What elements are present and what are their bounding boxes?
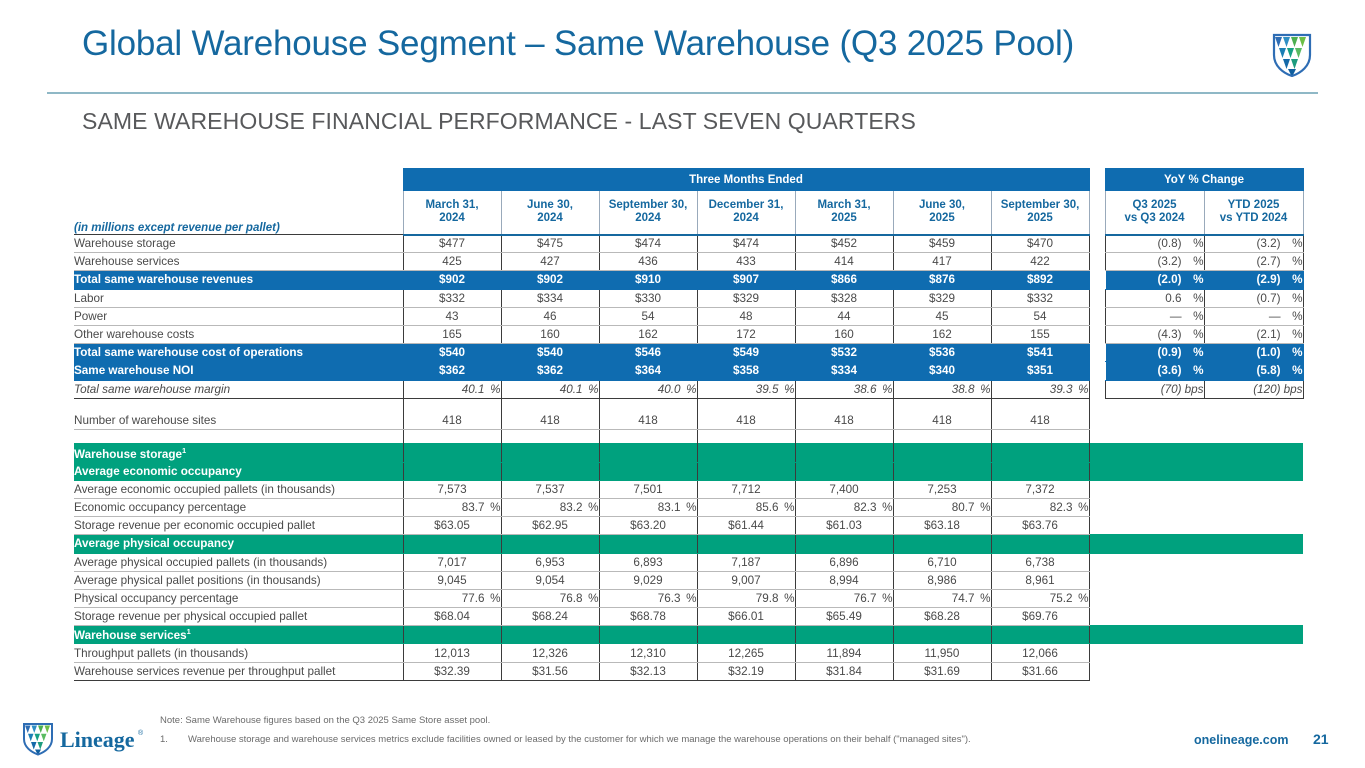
table-section-header-row: Warehouse storage1 <box>74 444 1303 462</box>
yoy-symbol: % <box>1182 346 1204 359</box>
cell-yoy: (70)bps <box>1105 380 1204 398</box>
units-label: (in millions except revenue per pallet) <box>74 191 403 235</box>
svg-text:®: ® <box>138 729 144 737</box>
empty-yoy-cell <box>1204 412 1303 430</box>
cell-value: $31.66 <box>991 662 1089 680</box>
cell-value <box>403 462 501 480</box>
cell-value: 76.3% <box>599 589 697 607</box>
row-label: Warehouse services <box>74 253 403 271</box>
yoy-number: (1.0) <box>1223 346 1281 359</box>
cell-value: $477 <box>403 235 501 253</box>
col-line1: March 31, <box>796 199 893 212</box>
cell-value: $68.78 <box>599 608 697 626</box>
cell-value: 39.5% <box>697 380 795 398</box>
yoy-symbol: % <box>1281 346 1303 359</box>
cell-value: 8,961 <box>991 571 1089 589</box>
cell-number: 83.1 <box>629 501 681 514</box>
cell-value: 12,310 <box>599 644 697 662</box>
cell-number: 76.7 <box>825 592 877 605</box>
cell-yoy: (2.9)% <box>1204 271 1303 289</box>
column-gap <box>1089 253 1105 271</box>
cell-value: $910 <box>599 271 697 289</box>
cell-value: $61.44 <box>697 517 795 535</box>
cell-symbol: % <box>681 383 697 396</box>
cell-value: $549 <box>697 344 795 362</box>
cell-value: $68.28 <box>893 608 991 626</box>
cell-symbol: % <box>877 383 893 396</box>
column-gap <box>1089 608 1105 626</box>
spacer-cell <box>795 430 893 444</box>
row-label: Economic occupancy percentage <box>74 498 403 516</box>
yoy-symbol: % <box>1281 328 1303 341</box>
cell-value: 40.0% <box>599 380 697 398</box>
cell-value: $62.95 <box>501 517 599 535</box>
yoy-number: (3.2) <box>1124 255 1182 268</box>
empty-yoy-cell <box>1105 517 1204 535</box>
yoy-symbol: % <box>1182 273 1204 286</box>
cell-value: $532 <box>795 344 893 362</box>
empty-yoy-cell <box>1204 498 1303 516</box>
col-line1: YTD 2025 <box>1205 199 1303 212</box>
cell-value: 54 <box>991 307 1089 325</box>
column-gap <box>1089 462 1105 480</box>
table-spacer-row <box>74 398 1303 412</box>
page-subtitle: SAME WAREHOUSE FINANCIAL PERFORMANCE - L… <box>82 108 916 135</box>
group-header-yoy: YoY % Change <box>1105 169 1303 191</box>
website-link[interactable]: onelineage.com <box>1194 733 1288 747</box>
col-line2: 2025 <box>894 212 991 225</box>
cell-value: 165 <box>403 325 501 343</box>
cell-number: 79.8 <box>727 592 779 605</box>
empty-yoy-cell <box>1204 430 1303 444</box>
cell-symbol: % <box>1073 592 1089 605</box>
cell-value: $902 <box>501 271 599 289</box>
cell-value: 11,894 <box>795 644 893 662</box>
cell-value: $540 <box>501 344 599 362</box>
cell-yoy: (2.1)% <box>1204 325 1303 343</box>
cell-value <box>403 626 501 644</box>
cell-symbol: % <box>485 501 501 514</box>
cell-value: 8,986 <box>893 571 991 589</box>
yoy-number: — <box>1223 310 1281 323</box>
slide: Global Warehouse Segment – Same Warehous… <box>0 0 1365 768</box>
cell-value: $452 <box>795 235 893 253</box>
table-row: Labor$332$334$330$329$328$329$3320.6%(0.… <box>74 289 1303 307</box>
cell-value: $63.18 <box>893 517 991 535</box>
svg-text:Lineage: Lineage <box>60 727 135 752</box>
table-spacer-row <box>74 430 1303 444</box>
table-row: Storage revenue per physical occupied pa… <box>74 608 1303 626</box>
column-header-quarter-3: September 30,2024 <box>599 191 697 235</box>
cell-value: $866 <box>795 271 893 289</box>
cell-value: 45 <box>893 307 991 325</box>
cell-value: 414 <box>795 253 893 271</box>
cell-value: 9,045 <box>403 571 501 589</box>
column-gap <box>1089 169 1105 191</box>
cell-value: 80.7% <box>893 498 991 516</box>
cell-value <box>893 462 991 480</box>
empty-yoy-cell <box>1105 498 1204 516</box>
group-header-three-months: Three Months Ended <box>403 169 1089 191</box>
cell-number: 82.3 <box>1021 501 1073 514</box>
cell-value: $68.04 <box>403 608 501 626</box>
empty-yoy-cell <box>1204 571 1303 589</box>
lineage-shield-icon <box>1272 33 1312 77</box>
cell-number: 76.3 <box>629 592 681 605</box>
spacer-cell <box>599 398 697 412</box>
cell-value: 436 <box>599 253 697 271</box>
yoy-symbol: % <box>1182 255 1204 268</box>
table-row: Throughput pallets (in thousands)12,0131… <box>74 644 1303 662</box>
cell-value <box>795 626 893 644</box>
financial-table-wrapper: Three Months Ended YoY % Change (in mill… <box>74 168 1304 681</box>
col-line1: March 31, <box>404 199 501 212</box>
cell-symbol: % <box>877 501 893 514</box>
cell-value: 6,893 <box>599 553 697 571</box>
yoy-symbol: % <box>1182 328 1204 341</box>
yoy-symbol: % <box>1182 292 1204 305</box>
table-row: Average physical occupied pallets (in th… <box>74 553 1303 571</box>
empty-corner <box>74 169 403 191</box>
cell-value: $540 <box>403 344 501 362</box>
column-gap <box>1089 412 1105 430</box>
spacer-cell <box>697 430 795 444</box>
empty-yoy-cell <box>1204 462 1303 480</box>
column-gap <box>1089 553 1105 571</box>
cell-value: 9,007 <box>697 571 795 589</box>
yoy-number: (3.6) <box>1124 364 1182 377</box>
cell-value: 433 <box>697 253 795 271</box>
page-number: 21 <box>1313 731 1329 747</box>
footnote-number: 1. <box>160 734 188 745</box>
empty-yoy-cell <box>1105 412 1204 430</box>
table-section-header-row: Average physical occupancy <box>74 535 1303 553</box>
row-label: Storage revenue per economic occupied pa… <box>74 517 403 535</box>
cell-value: 9,029 <box>599 571 697 589</box>
cell-symbol: % <box>975 383 991 396</box>
yoy-number: (2.1) <box>1223 328 1281 341</box>
col-line2: vs YTD 2024 <box>1205 212 1303 225</box>
cell-value: 12,326 <box>501 644 599 662</box>
row-label: Labor <box>74 289 403 307</box>
cell-value: $474 <box>697 235 795 253</box>
spacer-cell <box>501 398 599 412</box>
cell-yoy: (4.3)% <box>1105 325 1204 343</box>
cell-value: $334 <box>501 289 599 307</box>
cell-value: $474 <box>599 235 697 253</box>
cell-value: $63.76 <box>991 517 1089 535</box>
column-header-quarter-2: June 30,2024 <box>501 191 599 235</box>
col-line2: 2024 <box>404 212 501 225</box>
cell-yoy: (3.2)% <box>1105 253 1204 271</box>
footer-note: Note: Same Warehouse figures based on th… <box>160 715 490 726</box>
empty-yoy-cell <box>1204 644 1303 662</box>
cell-value <box>795 462 893 480</box>
table-row: Physical occupancy percentage77.6%76.8%7… <box>74 589 1303 607</box>
column-gap <box>1089 362 1105 380</box>
cell-number: 85.6 <box>727 501 779 514</box>
cell-symbol: % <box>485 383 501 396</box>
footer-footnote: 1.Warehouse storage and warehouse servic… <box>160 734 971 745</box>
cell-value: 75.2% <box>991 589 1089 607</box>
cell-value: 82.3% <box>795 498 893 516</box>
table-row: Total same warehouse cost of operations$… <box>74 344 1303 362</box>
yoy-number: (4.3) <box>1124 328 1182 341</box>
title-divider <box>47 92 1318 94</box>
cell-value: 162 <box>599 325 697 343</box>
table-row: Power43465448444554—%—% <box>74 307 1303 325</box>
cell-value: $332 <box>991 289 1089 307</box>
group-header-row: Three Months Ended YoY % Change <box>74 169 1303 191</box>
cell-value <box>403 535 501 553</box>
col-line1: Q3 2025 <box>1106 199 1204 212</box>
row-label: Total same warehouse revenues <box>74 271 403 289</box>
empty-yoy-cell <box>1105 444 1204 462</box>
cell-value: 76.8% <box>501 589 599 607</box>
yoy-number: (2.0) <box>1124 273 1182 286</box>
row-label: Warehouse services revenue per throughpu… <box>74 662 403 680</box>
cell-value <box>403 444 501 462</box>
cell-value <box>599 626 697 644</box>
cell-value: 82.3% <box>991 498 1089 516</box>
yoy-number: (2.9) <box>1223 273 1281 286</box>
spacer-label <box>74 398 403 412</box>
row-label: Total same warehouse cost of operations <box>74 344 403 362</box>
column-header-quarter-7: September 30,2025 <box>991 191 1089 235</box>
empty-yoy-cell <box>1105 662 1204 680</box>
cell-value: 427 <box>501 253 599 271</box>
empty-yoy-cell <box>1105 626 1204 644</box>
yoy-symbol: bps <box>1182 383 1204 396</box>
cell-value: $31.69 <box>893 662 991 680</box>
cell-value: 7,400 <box>795 480 893 498</box>
table-row: Average economic occupied pallets (in th… <box>74 480 1303 498</box>
cell-value: 12,013 <box>403 644 501 662</box>
empty-yoy-cell <box>1105 608 1204 626</box>
cell-yoy: (5.8)% <box>1204 362 1303 380</box>
column-gap <box>1089 444 1105 462</box>
cell-yoy: (2.0)% <box>1105 271 1204 289</box>
cell-value: 418 <box>795 412 893 430</box>
cell-value: 172 <box>697 325 795 343</box>
table-section-header-row: Warehouse services1 <box>74 626 1303 644</box>
cell-value: 418 <box>599 412 697 430</box>
cell-value: $536 <box>893 344 991 362</box>
cell-value: $362 <box>403 362 501 380</box>
cell-value: 6,896 <box>795 553 893 571</box>
spacer-cell <box>501 430 599 444</box>
yoy-symbol: % <box>1182 310 1204 323</box>
col-line1: June 30, <box>894 199 991 212</box>
col-line1: December 31, <box>698 199 795 212</box>
empty-yoy-cell <box>1105 553 1204 571</box>
yoy-symbol: % <box>1281 273 1303 286</box>
empty-yoy-cell <box>1204 444 1303 462</box>
cell-value: 38.6% <box>795 380 893 398</box>
cell-value: 48 <box>697 307 795 325</box>
column-gap <box>1089 571 1105 589</box>
cell-value: 418 <box>697 412 795 430</box>
cell-value: 6,710 <box>893 553 991 571</box>
col-line2: 2024 <box>600 212 697 225</box>
cell-value <box>893 444 991 462</box>
cell-value: $907 <box>697 271 795 289</box>
row-label: Warehouse storage1 <box>74 444 403 462</box>
table-row: Other warehouse costs1651601621721601621… <box>74 325 1303 343</box>
table-row: Number of warehouse sites418418418418418… <box>74 412 1303 430</box>
column-gap <box>1089 271 1105 289</box>
cell-yoy: 0.6% <box>1105 289 1204 307</box>
yoy-number: (5.8) <box>1223 364 1281 377</box>
cell-value: 162 <box>893 325 991 343</box>
col-line2: 2025 <box>796 212 893 225</box>
row-label: Same warehouse NOI <box>74 362 403 380</box>
cell-value: $31.56 <box>501 662 599 680</box>
cell-value: 7,501 <box>599 480 697 498</box>
table-section-header-row: Average economic occupancy <box>74 462 1303 480</box>
cell-value <box>991 444 1089 462</box>
column-gap <box>1089 235 1105 253</box>
yoy-symbol: % <box>1182 237 1204 250</box>
table-body: Warehouse storage$477$475$474$474$452$45… <box>74 235 1303 681</box>
empty-yoy-cell <box>1204 662 1303 680</box>
empty-yoy-cell <box>1204 589 1303 607</box>
cell-number: 80.7 <box>923 501 975 514</box>
cell-symbol: % <box>681 592 697 605</box>
yoy-symbol: % <box>1281 364 1303 377</box>
cell-value: 8,994 <box>795 571 893 589</box>
yoy-number: 0.6 <box>1124 292 1182 305</box>
cell-number: 38.6 <box>825 383 877 396</box>
cell-yoy: —% <box>1105 307 1204 325</box>
cell-value: $546 <box>599 344 697 362</box>
table-row: Storage revenue per economic occupied pa… <box>74 517 1303 535</box>
cell-value: $358 <box>697 362 795 380</box>
column-gap <box>1089 344 1105 362</box>
yoy-symbol: % <box>1281 237 1303 250</box>
cell-value: 7,187 <box>697 553 795 571</box>
cell-yoy: (2.7)% <box>1204 253 1303 271</box>
cell-value <box>893 535 991 553</box>
col-line2: 2025 <box>992 212 1089 225</box>
col-line1: June 30, <box>502 199 599 212</box>
cell-symbol: % <box>681 501 697 514</box>
table-row: Warehouse services revenue per throughpu… <box>74 662 1303 680</box>
column-gap <box>1089 535 1105 553</box>
cell-number: 40.1 <box>531 383 583 396</box>
cell-value: 418 <box>893 412 991 430</box>
row-label: Power <box>74 307 403 325</box>
cell-value: $876 <box>893 271 991 289</box>
cell-value: $31.84 <box>795 662 893 680</box>
cell-value: 77.6% <box>403 589 501 607</box>
cell-symbol: % <box>779 592 795 605</box>
cell-value: 6,953 <box>501 553 599 571</box>
row-label: Storage revenue per physical occupied pa… <box>74 608 403 626</box>
cell-number: 40.0 <box>629 383 681 396</box>
cell-yoy: (1.0)% <box>1204 344 1303 362</box>
spacer-cell <box>403 430 501 444</box>
spacer-cell <box>893 398 991 412</box>
cell-value: $66.01 <box>697 608 795 626</box>
same-warehouse-financial-table: Three Months Ended YoY % Change (in mill… <box>74 168 1304 681</box>
cell-value: 7,017 <box>403 553 501 571</box>
col-line1: September 30, <box>600 199 697 212</box>
spacer-label <box>74 430 403 444</box>
cell-number: 76.8 <box>531 592 583 605</box>
cell-value <box>893 626 991 644</box>
cell-value: 38.8% <box>893 380 991 398</box>
cell-value: 7,253 <box>893 480 991 498</box>
page-title: Global Warehouse Segment – Same Warehous… <box>82 24 1074 64</box>
empty-yoy-cell <box>1204 626 1303 644</box>
cell-value: 79.8% <box>697 589 795 607</box>
cell-value: 418 <box>501 412 599 430</box>
yoy-number: (0.8) <box>1124 237 1182 250</box>
table-head: Three Months Ended YoY % Change (in mill… <box>74 169 1303 235</box>
empty-yoy-cell <box>1204 553 1303 571</box>
cell-value: 44 <box>795 307 893 325</box>
column-header-quarter-5: March 31,2025 <box>795 191 893 235</box>
col-line1: September 30, <box>992 199 1089 212</box>
cell-value: $892 <box>991 271 1089 289</box>
column-gap <box>1089 517 1105 535</box>
table-row: Total same warehouse revenues$902$902$91… <box>74 271 1303 289</box>
yoy-number: — <box>1124 310 1182 323</box>
cell-value: $32.39 <box>403 662 501 680</box>
empty-yoy-cell <box>1105 462 1204 480</box>
cell-value: 7,372 <box>991 480 1089 498</box>
cell-value: 160 <box>795 325 893 343</box>
col-line2: vs Q3 2024 <box>1106 212 1204 225</box>
cell-value <box>501 444 599 462</box>
cell-symbol: % <box>485 592 501 605</box>
yoy-number: (0.9) <box>1124 346 1182 359</box>
empty-yoy-cell <box>1204 608 1303 626</box>
cell-value: 11,950 <box>893 644 991 662</box>
cell-number: 77.6 <box>433 592 485 605</box>
spacer-cell <box>403 398 501 412</box>
cell-number: 38.8 <box>923 383 975 396</box>
cell-value: 7,537 <box>501 480 599 498</box>
column-gap <box>1089 589 1105 607</box>
cell-value: 43 <box>403 307 501 325</box>
cell-number: 74.7 <box>923 592 975 605</box>
cell-yoy: (0.8)% <box>1105 235 1204 253</box>
cell-number: 83.7 <box>433 501 485 514</box>
cell-value <box>599 462 697 480</box>
empty-yoy-cell <box>1105 589 1204 607</box>
cell-yoy: (3.6)% <box>1105 362 1204 380</box>
footnote-marker: 1 <box>187 627 191 636</box>
empty-yoy-cell <box>1105 430 1204 444</box>
empty-yoy-cell <box>1204 398 1303 412</box>
row-label: Average physical occupancy <box>74 535 403 553</box>
cell-value <box>599 444 697 462</box>
cell-value <box>795 444 893 462</box>
cell-value: $340 <box>893 362 991 380</box>
cell-yoy: (3.2)% <box>1204 235 1303 253</box>
spacer-cell <box>599 430 697 444</box>
cell-symbol: % <box>779 501 795 514</box>
cell-number: 39.5 <box>727 383 779 396</box>
cell-number: 82.3 <box>825 501 877 514</box>
cell-value <box>795 535 893 553</box>
cell-symbol: % <box>583 592 599 605</box>
yoy-symbol: % <box>1281 255 1303 268</box>
cell-value: 418 <box>403 412 501 430</box>
cell-value: 7,712 <box>697 480 795 498</box>
